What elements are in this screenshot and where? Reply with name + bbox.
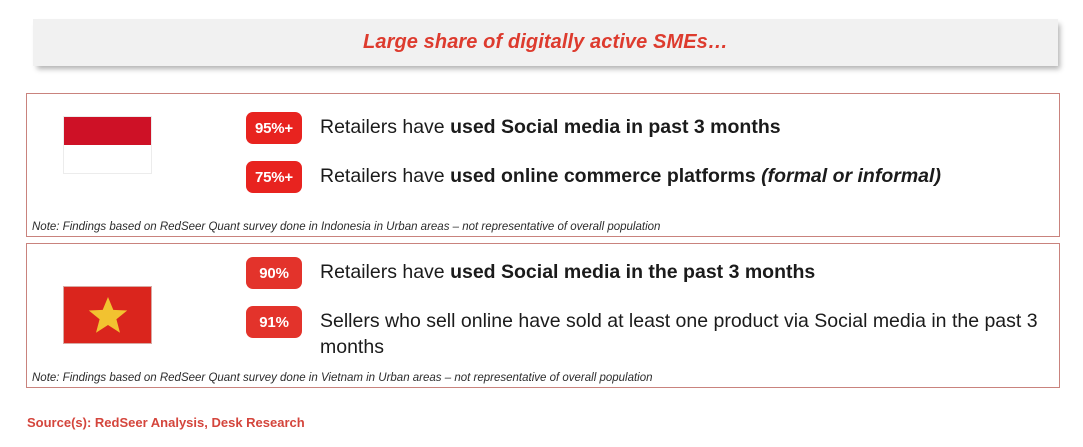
indonesia-flag-icon: [63, 116, 152, 174]
stat-row: 75%+ Retailers have used online commerce…: [246, 161, 941, 193]
status-badge: 95%+: [246, 112, 302, 144]
stat-row: 91% Sellers who sell online have sold at…: [246, 306, 1060, 360]
stat-label: Sellers who sell online have sold at lea…: [320, 306, 1060, 360]
stat-label-bold: used Social media in the past 3 months: [450, 261, 815, 283]
country-panel-vietnam: 90% Retailers have used Social media in …: [26, 243, 1060, 388]
stat-label: Retailers have used online commerce plat…: [320, 161, 941, 189]
indonesia-flag-wrapper: [63, 116, 152, 174]
source-label: Source(s): RedSeer Analysis, Desk Resear…: [27, 415, 305, 430]
stat-row: 90% Retailers have used Social media in …: [246, 257, 815, 289]
status-badge: 75%+: [246, 161, 302, 193]
stat-label-plain: Retailers have: [320, 261, 450, 283]
stat-label: Retailers have used Social media in the …: [320, 257, 815, 285]
country-panel-indonesia: 95%+ Retailers have used Social media in…: [26, 93, 1060, 237]
stat-label: Retailers have used Social media in past…: [320, 112, 781, 140]
stat-row: 95%+ Retailers have used Social media in…: [246, 112, 781, 144]
stat-label-plain: Retailers have: [320, 165, 450, 187]
stat-label-bold: used Social media in past 3 months: [450, 116, 781, 138]
status-badge: 90%: [246, 257, 302, 289]
stat-label-bold: used online commerce platforms: [450, 165, 761, 187]
status-badge: 91%: [246, 306, 302, 338]
panel-note: Note: Findings based on RedSeer Quant su…: [32, 372, 653, 384]
indonesia-flag-white-band: [64, 145, 151, 173]
panel-note: Note: Findings based on RedSeer Quant su…: [32, 221, 660, 233]
vietnam-flag-icon: [63, 286, 152, 344]
vietnam-flag-wrapper: [63, 286, 152, 344]
stat-label-bold-italic: (formal or informal): [761, 165, 941, 187]
header-banner: Large share of digitally active SMEs…: [33, 19, 1058, 66]
stat-label-plain: Retailers have: [320, 116, 450, 138]
star-icon: [88, 296, 128, 334]
page-title: Large share of digitally active SMEs…: [363, 31, 728, 54]
indonesia-flag-red-band: [64, 117, 151, 145]
